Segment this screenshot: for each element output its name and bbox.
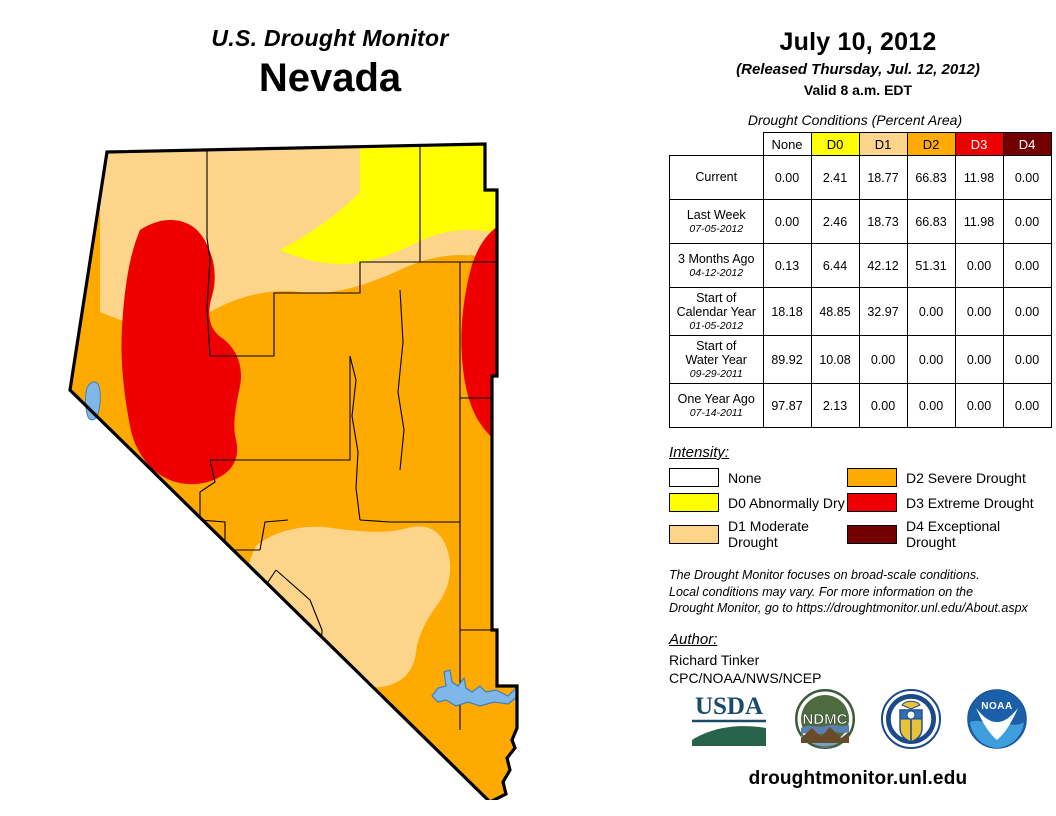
program-title: U.S. Drought Monitor (0, 26, 660, 51)
legend-swatch-d3 (847, 493, 897, 512)
author-block: Author: Richard Tinker CPC/NOAA/NWS/NCEP (669, 631, 1056, 687)
info-panel: July 10, 2012 (Released Thursday, Jul. 1… (660, 0, 1056, 816)
legend-label-d0: D0 Abnormally Dry (728, 495, 845, 511)
cell-none: 97.87 (763, 384, 811, 428)
column-header-d4: D4 (1003, 133, 1051, 156)
disclaimer-text: The Drought Monitor focuses on broad-sca… (669, 567, 1051, 617)
sponsor-logos: USDA NDMC (660, 688, 1056, 755)
table-header-row: None D0 D1 D2 D3 D4 (670, 133, 1052, 156)
column-header-none: None (763, 133, 811, 156)
column-header-d2: D2 (907, 133, 955, 156)
column-header-d1: D1 (859, 133, 907, 156)
legend-label-d2: D2 Severe Drought (906, 470, 1026, 486)
cell-none: 0.00 (763, 200, 811, 244)
cell-d1: 0.00 (859, 336, 907, 384)
cell-d2: 51.31 (907, 244, 955, 288)
cell-d2: 0.00 (907, 384, 955, 428)
legend-swatch-d0 (669, 493, 719, 512)
cell-d2: 0.00 (907, 336, 955, 384)
legend-label-d3: D3 Extreme Drought (906, 495, 1034, 511)
noaa-logo: NOAA (966, 688, 1028, 755)
svg-text:NDMC: NDMC (803, 711, 848, 728)
intensity-legend-title: Intensity: (669, 444, 1049, 461)
cell-d2: 66.83 (907, 200, 955, 244)
row-label: Current (670, 156, 764, 200)
disclaimer-line-3: Drought Monitor, go to https://droughtmo… (669, 600, 1051, 617)
nevada-drought-map[interactable] (60, 130, 620, 800)
legend-swatch-d2 (847, 468, 897, 487)
table-corner-blank (670, 133, 764, 156)
cell-d4: 0.00 (1003, 156, 1051, 200)
date-block: July 10, 2012 (Released Thursday, Jul. 1… (660, 0, 1056, 98)
svg-text:NOAA: NOAA (981, 701, 1012, 712)
cell-d0: 2.41 (811, 156, 859, 200)
cell-d4: 0.00 (1003, 384, 1051, 428)
table-row: One Year Ago07-14-201197.872.130.000.000… (670, 384, 1052, 428)
cell-none: 0.00 (763, 156, 811, 200)
valid-time: Valid 8 a.m. EDT (660, 82, 1056, 98)
cell-none: 0.13 (763, 244, 811, 288)
table-body: Current0.002.4118.7766.8311.980.00Last W… (670, 156, 1052, 428)
legend-item-d1: D1 Moderate Drought (669, 518, 847, 550)
map-date: July 10, 2012 (660, 28, 1056, 57)
legend-swatch-d1 (669, 525, 719, 544)
site-url[interactable]: droughtmonitor.unl.edu (660, 768, 1056, 790)
cell-d0: 10.08 (811, 336, 859, 384)
row-date: 04-12-2012 (670, 267, 763, 279)
state-title: Nevada (0, 55, 660, 101)
cell-d4: 0.00 (1003, 244, 1051, 288)
legend-label-none: None (728, 470, 761, 486)
cell-d3: 11.98 (955, 156, 1003, 200)
intensity-legend: Intensity: NoneD2 Severe DroughtD0 Abnor… (669, 444, 1049, 550)
cell-d1: 42.12 (859, 244, 907, 288)
row-date: 09-29-2011 (670, 368, 763, 380)
legend-swatch-d4 (847, 525, 897, 544)
legend-grid: NoneD2 Severe DroughtD0 Abnormally DryD3… (669, 468, 1049, 550)
cell-d1: 0.00 (859, 384, 907, 428)
usda-logo: USDA (688, 688, 770, 755)
svg-text:USDA: USDA (695, 693, 763, 720)
cell-d0: 2.46 (811, 200, 859, 244)
table-row: Start ofWater Year09-29-201189.9210.080.… (670, 336, 1052, 384)
table-row: Current0.002.4118.7766.8311.980.00 (670, 156, 1052, 200)
legend-item-d0: D0 Abnormally Dry (669, 493, 847, 512)
table-row: Start ofCalendar Year01-05-201218.1848.8… (670, 288, 1052, 336)
map-panel: U.S. Drought Monitor Nevada (0, 0, 660, 816)
table-caption: Drought Conditions (Percent Area) (660, 112, 1056, 128)
row-date: 01-05-2012 (670, 320, 763, 332)
table-row: Last Week07-05-20120.002.4618.7366.8311.… (670, 200, 1052, 244)
row-date: 07-05-2012 (670, 223, 763, 235)
cell-d3: 0.00 (955, 336, 1003, 384)
column-header-d3: D3 (955, 133, 1003, 156)
map-svg (60, 130, 620, 800)
table-header: None D0 D1 D2 D3 D4 (670, 133, 1052, 156)
disclaimer-line-2: Local conditions may vary. For more info… (669, 584, 1051, 601)
page-title: U.S. Drought Monitor Nevada (0, 26, 660, 101)
release-date: (Released Thursday, Jul. 12, 2012) (660, 61, 1056, 78)
cell-d1: 18.73 (859, 200, 907, 244)
ndmc-logo: NDMC (794, 688, 856, 755)
cell-none: 89.92 (763, 336, 811, 384)
legend-label-d4: D4 Exceptional Drought (906, 518, 1047, 550)
column-header-d0: D0 (811, 133, 859, 156)
cell-d1: 32.97 (859, 288, 907, 336)
legend-item-d2: D2 Severe Drought (847, 468, 1047, 487)
cell-d3: 0.00 (955, 288, 1003, 336)
row-label: 3 Months Ago04-12-2012 (670, 244, 764, 288)
table-row: 3 Months Ago04-12-20120.136.4442.1251.31… (670, 244, 1052, 288)
commerce-seal (880, 688, 942, 755)
cell-d3: 11.98 (955, 200, 1003, 244)
cell-d4: 0.00 (1003, 336, 1051, 384)
cell-d0: 2.13 (811, 384, 859, 428)
legend-swatch-none (669, 468, 719, 487)
cell-d4: 0.00 (1003, 288, 1051, 336)
author-label: Author: (669, 631, 1056, 648)
author-name: Richard Tinker (669, 651, 1056, 669)
legend-item-d3: D3 Extreme Drought (847, 493, 1047, 512)
cell-d3: 0.00 (955, 244, 1003, 288)
drought-fill-layers (60, 130, 620, 800)
row-label: One Year Ago07-14-2011 (670, 384, 764, 428)
cell-d1: 18.77 (859, 156, 907, 200)
legend-item-none: None (669, 468, 847, 487)
drought-conditions-table: None D0 D1 D2 D3 D4 Current0.002.4118.77… (669, 132, 1052, 428)
author-affiliation: CPC/NOAA/NWS/NCEP (669, 669, 1056, 687)
disclaimer-line-1: The Drought Monitor focuses on broad-sca… (669, 567, 1051, 584)
cell-d3: 0.00 (955, 384, 1003, 428)
row-label: Start ofCalendar Year01-05-2012 (670, 288, 764, 336)
cell-d4: 0.00 (1003, 200, 1051, 244)
cell-d0: 48.85 (811, 288, 859, 336)
cell-d2: 66.83 (907, 156, 955, 200)
cell-d0: 6.44 (811, 244, 859, 288)
row-label: Last Week07-05-2012 (670, 200, 764, 244)
legend-label-d1: D1 Moderate Drought (728, 518, 847, 550)
row-date: 07-14-2011 (670, 407, 763, 419)
legend-item-d4: D4 Exceptional Drought (847, 518, 1047, 550)
cell-d2: 0.00 (907, 288, 955, 336)
cell-none: 18.18 (763, 288, 811, 336)
row-label: Start ofWater Year09-29-2011 (670, 336, 764, 384)
